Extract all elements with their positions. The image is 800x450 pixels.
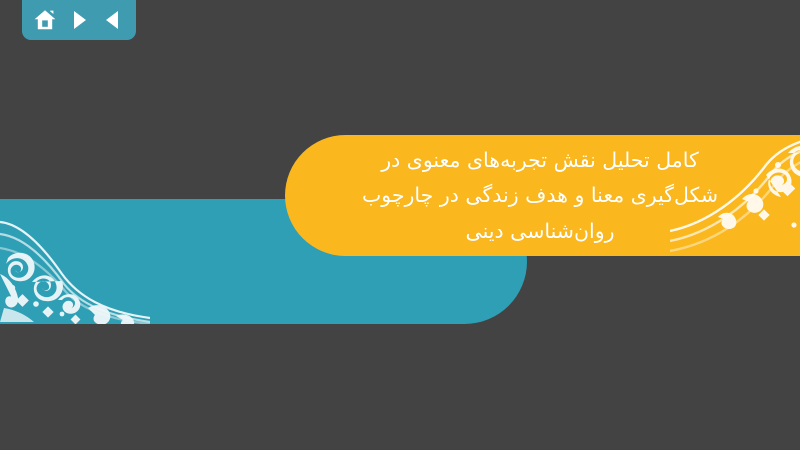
arabesque-corner-ornament (670, 135, 800, 256)
slide-canvas: کامل تحلیل نقش تجربه‌های معنوی در شکل‌گی… (0, 0, 800, 450)
forward-arrow-icon (68, 9, 90, 31)
orange-title-banner (285, 135, 800, 256)
forward-button[interactable] (64, 6, 94, 34)
home-icon (33, 8, 57, 32)
home-button[interactable] (30, 6, 60, 34)
navigation-bar (22, 0, 136, 40)
back-arrow-icon (102, 9, 124, 31)
back-button[interactable] (98, 6, 128, 34)
arabesque-corner-ornament-mirrored (0, 204, 150, 324)
